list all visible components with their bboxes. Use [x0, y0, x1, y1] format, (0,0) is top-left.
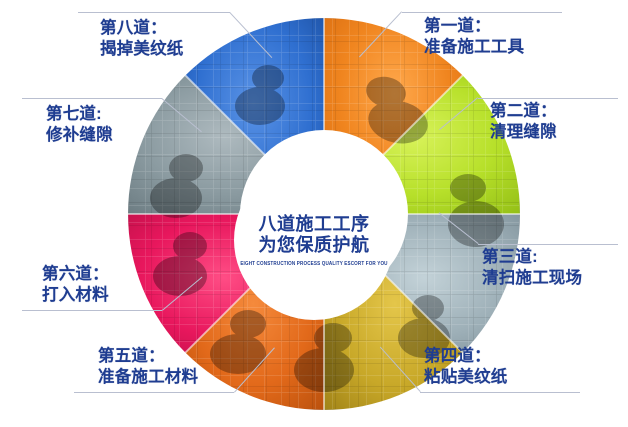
step-label-7[interactable]: 第七道: 修补缝隙 — [46, 104, 113, 146]
center-hub: 八道施工工序 为您保质护航 EIGHT CONSTRUCTION PROCESS… — [234, 160, 394, 320]
connector-line-step-3 — [478, 244, 618, 245]
connector-line-step-6 — [22, 310, 162, 311]
step-label-1[interactable]: 第一道： 准备施工工具 — [424, 16, 524, 58]
step-label-8[interactable]: 第八道： 揭掉美纹纸 — [100, 18, 184, 60]
step-6-desc: 打入材料 — [42, 285, 109, 306]
center-subtitle: EIGHT CONSTRUCTION PROCESS QUALITY ESCOR… — [240, 261, 387, 267]
step-2-title: 第二道： — [490, 101, 557, 122]
step-label-3[interactable]: 第三道: 清扫施工现场 — [482, 247, 582, 289]
step-5-desc: 准备施工材料 — [98, 367, 198, 388]
connector-line-step-1 — [402, 12, 562, 13]
step-6-title: 第六道： — [42, 264, 109, 285]
step-4-title: 第四道： — [424, 346, 508, 367]
step-8-desc: 揭掉美纹纸 — [100, 39, 184, 60]
step-label-2[interactable]: 第二道： 清理缝隙 — [490, 101, 557, 143]
connector-line-step-8 — [78, 12, 230, 13]
step-7-desc: 修补缝隙 — [46, 125, 113, 146]
step-2-desc: 清理缝隙 — [490, 122, 557, 143]
step-5-title: 第五道： — [98, 346, 198, 367]
step-label-6[interactable]: 第六道： 打入材料 — [42, 264, 109, 306]
step-1-desc: 准备施工工具 — [424, 37, 524, 58]
center-headline-line1: 八道施工工序 — [259, 214, 370, 235]
step-3-title: 第三道: — [482, 247, 582, 268]
connector-line-step-2 — [478, 98, 618, 99]
connector-line-step-5 — [74, 392, 234, 393]
step-label-5[interactable]: 第五道： 准备施工材料 — [98, 346, 198, 388]
step-3-desc: 清扫施工现场 — [482, 268, 582, 289]
connector-line-step-7 — [22, 98, 162, 99]
connector-line-step-4 — [420, 392, 580, 393]
step-4-desc: 粘贴美纹纸 — [424, 367, 508, 388]
infographic-canvas: 八道施工工序 为您保质护航 EIGHT CONSTRUCTION PROCESS… — [0, 0, 628, 427]
step-label-4[interactable]: 第四道： 粘贴美纹纸 — [424, 346, 508, 388]
center-headline-line2: 为您保质护航 — [259, 235, 370, 256]
step-7-title: 第七道: — [46, 104, 113, 125]
step-8-title: 第八道： — [100, 18, 184, 39]
step-1-title: 第一道： — [424, 16, 524, 37]
